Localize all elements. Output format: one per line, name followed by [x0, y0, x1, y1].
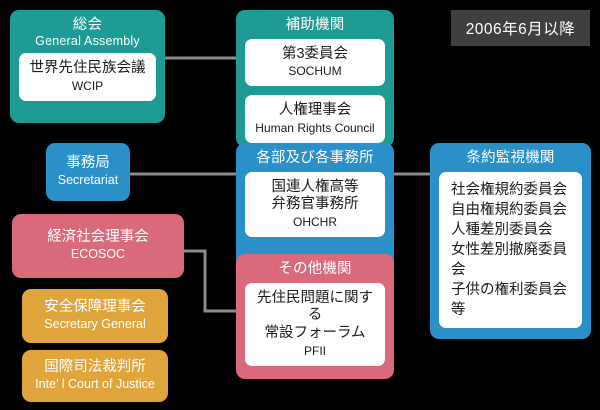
card-ohchr[interactable]: 国連人権高等 弁務官事務所 OHCHR: [245, 172, 385, 237]
card-ohchr-jp-line2: 弁務官事務所: [250, 196, 380, 214]
org-chart-diagram: 2006年6月以降 総会 General Assembly 世界先住民族会議 W…: [0, 0, 600, 410]
secretariat-title-jp: 事務局: [66, 155, 110, 172]
box-treaty-monitoring-bodies[interactable]: 条約監視機関 社会権規約委員会 自由権規約委員会 人種差別委員会 女性差別撤廃委…: [430, 143, 591, 339]
date-badge-label: 2006年6月以降: [466, 17, 576, 39]
box-other-bodies[interactable]: その他機関 先住民問題に関する 常設フォーラム PFII: [236, 254, 394, 379]
card-pfii-en: PFII: [250, 344, 380, 359]
card-wcip[interactable]: 世界先住民族会議 WCIP: [19, 53, 156, 101]
ecosoc-title-jp: 経済社会理事会: [47, 229, 149, 246]
box-general-assembly[interactable]: 総会 General Assembly 世界先住民族会議 WCIP: [10, 10, 165, 123]
general-assembly-title-en: General Assembly: [14, 34, 161, 48]
card-ohchr-jp-line1: 国連人権高等: [250, 179, 380, 197]
treaty-body-item: 自由権規約委員会: [451, 200, 576, 220]
other-bodies-title-jp: その他機関: [278, 261, 352, 277]
ecosoc-title-en: ECOSOC: [71, 247, 125, 263]
subsidiary-organs-heading: 補助機関: [236, 10, 394, 39]
treaty-body-item: 人種差別委員会: [451, 220, 576, 240]
box-subsidiary-organs[interactable]: 補助機関 第3委員会 SOCHUM 人権理事会 Human Rights Cou…: [236, 10, 394, 147]
departments-heading: 各部及び各事務所: [236, 143, 394, 172]
treaty-bodies-heading: 条約監視機関: [430, 143, 591, 172]
connector-ecosoc-to-other-bodies: [184, 251, 237, 311]
security-council-title-jp: 安全保障理事会: [44, 299, 146, 316]
box-security-council[interactable]: 安全保障理事会 Secretary General: [22, 289, 168, 343]
icj-title-en: Inte’ l Court of Justice: [35, 377, 155, 393]
icj-title-jp: 国際司法裁判所: [44, 359, 146, 376]
card-ohchr-en: OHCHR: [250, 215, 380, 230]
card-wcip-jp: 世界先住民族会議: [24, 60, 151, 78]
card-pfii[interactable]: 先住民問題に関する 常設フォーラム PFII: [245, 283, 385, 366]
other-bodies-heading: その他機関: [236, 254, 394, 283]
subsidiary-organs-title-jp: 補助機関: [286, 17, 345, 33]
card-sochum-jp: 第3委員会: [250, 46, 380, 64]
secretariat-title-en: Secretariat: [58, 173, 118, 189]
card-sochum[interactable]: 第3委員会 SOCHUM: [245, 39, 385, 87]
security-council-title-en: Secretary General: [44, 317, 145, 333]
card-sochum-en: SOCHUM: [250, 64, 380, 79]
box-secretariat[interactable]: 事務局 Secretariat: [46, 143, 130, 201]
box-ecosoc[interactable]: 経済社会理事会 ECOSOC: [12, 214, 184, 278]
box-international-court-of-justice[interactable]: 国際司法裁判所 Inte’ l Court of Justice: [22, 350, 168, 402]
treaty-body-item: 子供の権利委員会 等: [451, 280, 576, 320]
general-assembly-heading: 総会 General Assembly: [10, 10, 165, 53]
card-human-rights-council-jp: 人権理事会: [250, 102, 380, 120]
treaty-body-item: 女性差別撤廃委員会: [451, 240, 576, 280]
card-human-rights-council[interactable]: 人権理事会 Human Rights Council: [245, 95, 385, 143]
general-assembly-title-jp: 総会: [73, 17, 102, 33]
card-pfii-jp-line2: 常設フォーラム: [250, 325, 380, 343]
treaty-bodies-title-jp: 条約監視機関: [466, 150, 554, 166]
departments-title-jp: 各部及び各事務所: [256, 150, 374, 166]
card-human-rights-council-en: Human Rights Council: [250, 121, 380, 136]
card-treaty-bodies-list[interactable]: 社会権規約委員会 自由権規約委員会 人種差別委員会 女性差別撤廃委員会 子供の権…: [439, 172, 582, 328]
card-pfii-jp-line1: 先住民問題に関する: [250, 290, 380, 325]
date-badge: 2006年6月以降: [451, 10, 590, 46]
card-wcip-en: WCIP: [24, 79, 151, 94]
treaty-body-item: 社会権規約委員会: [451, 180, 576, 200]
